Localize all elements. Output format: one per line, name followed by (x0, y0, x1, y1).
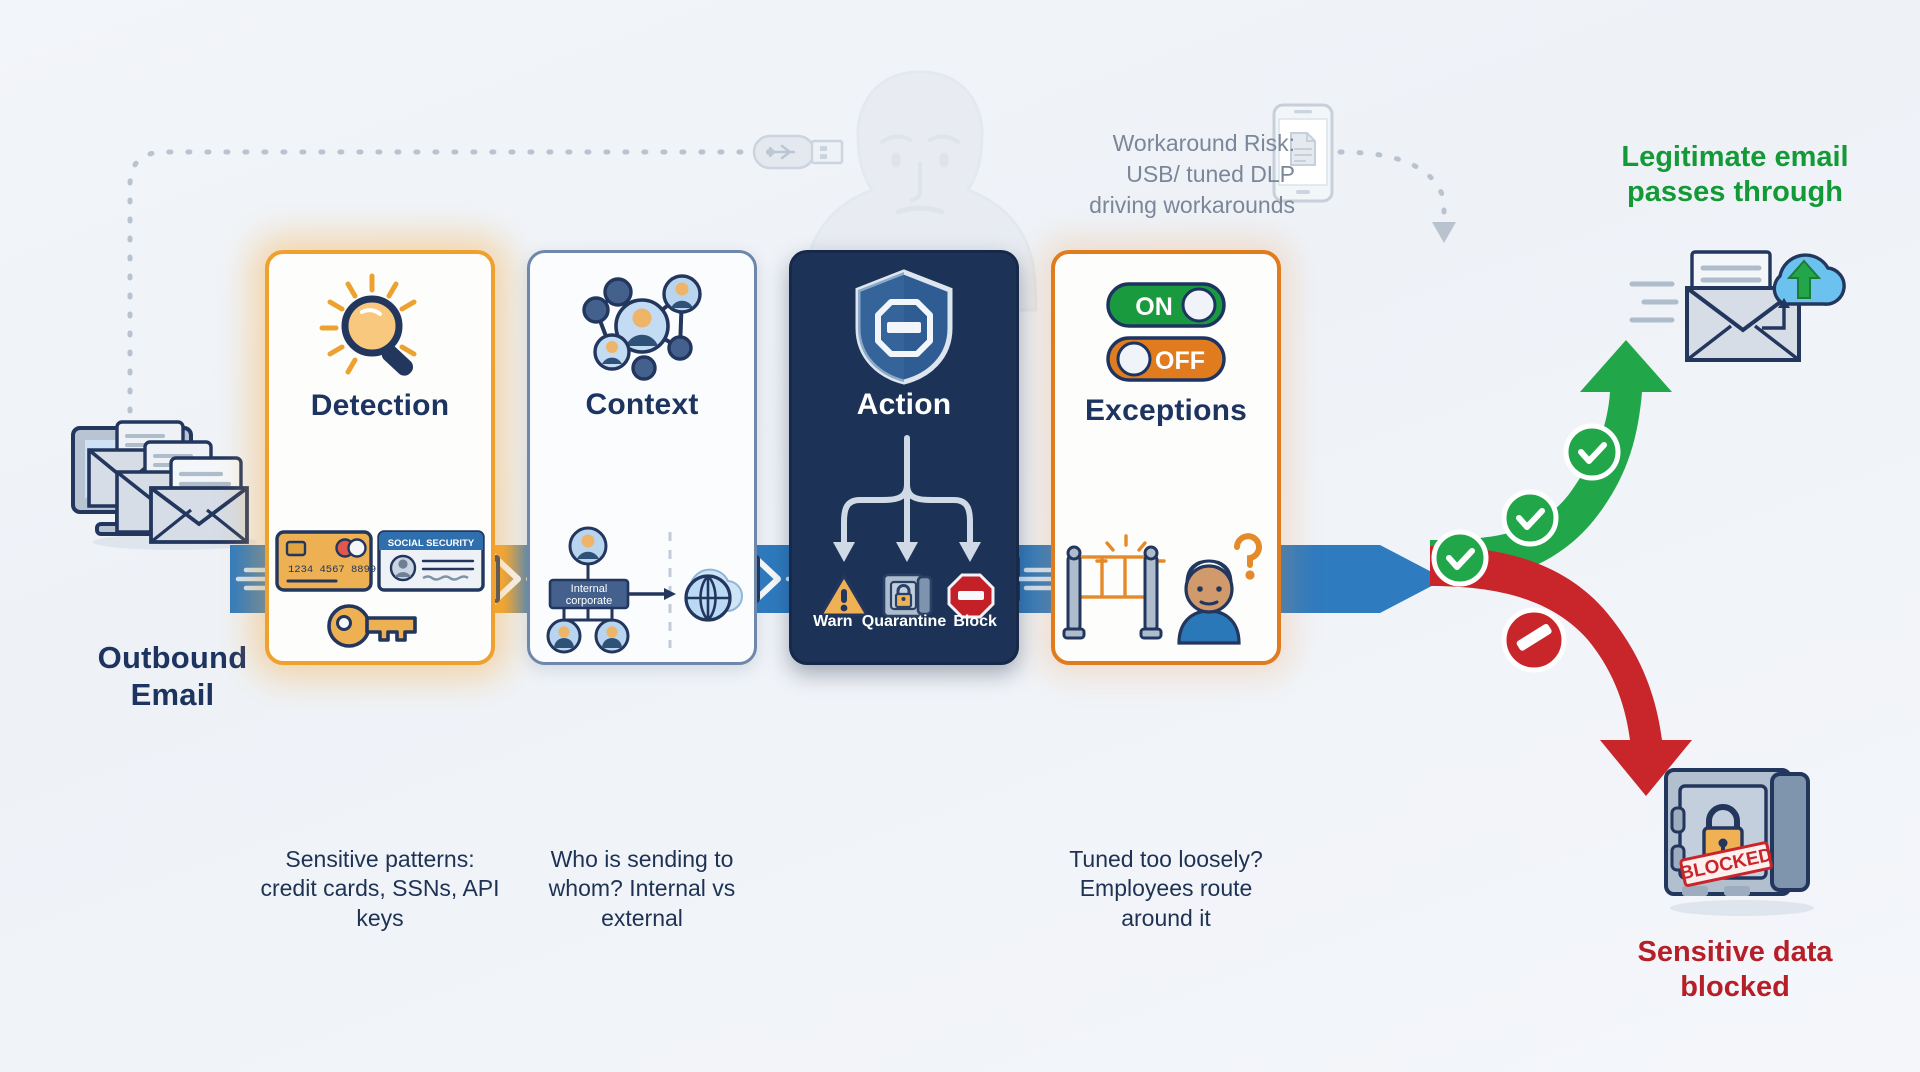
stop-sign-icon (947, 573, 995, 618)
safe-blocked-icon: BLOCKED (1650, 760, 1830, 920)
warning-triangle-icon (819, 573, 869, 618)
toggle-on-label: ON (1135, 293, 1173, 321)
caption-context: Who is sending to whom? Internal vs exte… (522, 845, 762, 933)
stage-title-context: Context (530, 388, 754, 422)
envelope-cloud-upload-icon (1630, 240, 1830, 385)
monitor-envelopes-icon (55, 420, 295, 550)
blocked-label-line2: blocked (1570, 970, 1900, 1005)
caption-detection: Sensitive patterns: credit cards, SSNs, … (260, 845, 500, 933)
action-outcome-icons (812, 573, 1002, 618)
pass-label-line1: Legitimate email (1570, 140, 1900, 175)
outcome-label-pass: Legitimate email passes through (1570, 140, 1900, 210)
outcome-label-blocked: Sensitive data blocked (1570, 935, 1900, 1005)
people-network-icon (530, 267, 754, 387)
workaround-line-1: Workaround Risk: (1045, 128, 1295, 159)
toggle-off-label: OFF (1155, 347, 1205, 375)
shield-block-icon (792, 267, 1016, 387)
context-box-line2: corporate (566, 595, 612, 607)
workaround-line-2: USB/ tuned DLP (1045, 159, 1295, 190)
action-label-block: Block (946, 613, 1004, 631)
action-label-quarantine: Quarantine (862, 613, 946, 631)
stage-card-context[interactable]: Context Internal corporate (527, 250, 757, 665)
context-box-line1: Internal (571, 583, 608, 595)
check-circle-icon (1434, 532, 1486, 584)
detection-sample-icons: 1234 4567 8899 7853 SOCIAL SECURITY (269, 516, 491, 666)
toggle-off-switch: OFF (1106, 336, 1226, 382)
globe-cloud-icon (686, 570, 742, 620)
action-label-warn: Warn (804, 613, 862, 631)
stage-card-exceptions[interactable]: ON OFF Exceptions (1051, 250, 1281, 665)
toggle-on-switch: ON (1106, 282, 1226, 328)
magnifier-icon (269, 268, 491, 388)
stage-title-action: Action (792, 388, 1016, 422)
stage-card-detection[interactable]: Detection 1234 4567 8899 7853 SOCIAL SEC… (265, 250, 495, 665)
stage-title-detection: Detection (269, 389, 491, 423)
confused-person-icon (1179, 536, 1259, 643)
check-circle-icon (1566, 426, 1618, 478)
workaround-line-3: driving workarounds (1045, 190, 1295, 221)
outcome-branch-arrows (1430, 340, 1850, 820)
action-outcome-labels: Warn Quarantine Block (792, 613, 1016, 631)
social-security-card-icon: SOCIAL SECURITY (379, 532, 483, 590)
pass-label-line2: passes through (1570, 175, 1900, 210)
exceptions-bottom-icons (1055, 516, 1277, 666)
context-org-diagram: Internal corporate (530, 515, 754, 665)
stage-card-action[interactable]: Action (789, 250, 1019, 665)
toggle-switches-icon: ON OFF (1055, 272, 1277, 392)
caption-exceptions: Tuned too loosely? Employees route aroun… (1046, 845, 1286, 933)
blocked-label-line1: Sensitive data (1570, 935, 1900, 970)
stage-title-exceptions: Exceptions (1055, 394, 1277, 428)
safe-lock-icon (882, 573, 934, 618)
outbound-label-line2: Email (40, 677, 305, 714)
action-branch-arrows (814, 438, 1000, 573)
workaround-risk-note: Workaround Risk: USB/ tuned DLP driving … (1045, 128, 1295, 221)
diagram-canvas: Outbound Email (0, 0, 1920, 1072)
ssn-card-title: SOCIAL SECURITY (388, 538, 475, 549)
question-mark-icon (1237, 536, 1259, 579)
barrier-gate-icon (1064, 536, 1164, 638)
check-circle-icon (1504, 492, 1556, 544)
api-key-icon (329, 606, 415, 646)
